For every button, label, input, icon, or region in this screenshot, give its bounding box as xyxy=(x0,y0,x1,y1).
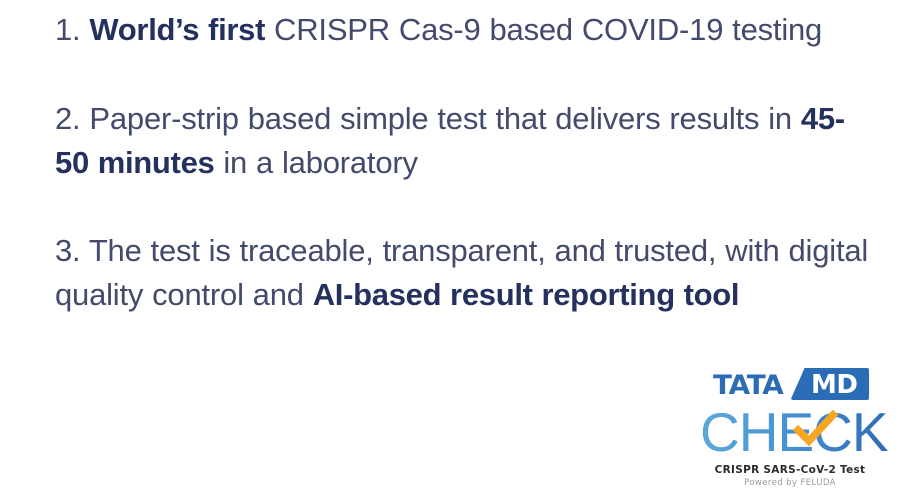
logo-sub-tagline: Powered by FELUDA xyxy=(700,478,880,488)
bullet-3-number: 3. xyxy=(55,233,80,268)
md-label: MD xyxy=(811,370,857,400)
check-wordmark: CHECK xyxy=(700,401,888,463)
slide-canvas: 1. World’s first CRISPR Cas-9 based COVI… xyxy=(0,0,900,500)
bullet-list: 1. World’s first CRISPR Cas-9 based COVI… xyxy=(55,8,875,348)
bullet-1-number: 1. xyxy=(55,12,80,47)
bullet-item-3: 3. The test is traceable, transparent, a… xyxy=(55,229,875,317)
tata-md-lockup: TATA MD xyxy=(707,368,873,402)
bullet-item-1: 1. World’s first CRISPR Cas-9 based COVI… xyxy=(55,8,875,52)
bullet-2-number: 2. xyxy=(55,101,80,136)
md-badge-notch xyxy=(790,367,805,401)
bullet-1-emphasis: World’s first xyxy=(89,12,265,47)
bullet-item-2: 2. Paper-strip based simple test that de… xyxy=(55,97,875,185)
tata-wordmark: TATA xyxy=(713,370,783,401)
bullet-2-text-after: in a laboratory xyxy=(214,145,417,180)
tata-md-check-logo: TATA MD CHECK CRISPR SARS-CoV-2 Test Pow… xyxy=(700,368,880,494)
md-badge: MD xyxy=(791,368,869,400)
bullet-3-emphasis: AI-based result reporting tool xyxy=(313,277,740,312)
bullet-2-text-before: Paper-strip based simple test that deliv… xyxy=(80,101,800,136)
bullet-1-text: CRISPR Cas-9 based COVID-19 testing xyxy=(265,12,822,47)
check-wordmark-wrap: CHECK xyxy=(700,405,880,460)
logo-tagline: CRISPR SARS-CoV-2 Test xyxy=(700,464,880,476)
